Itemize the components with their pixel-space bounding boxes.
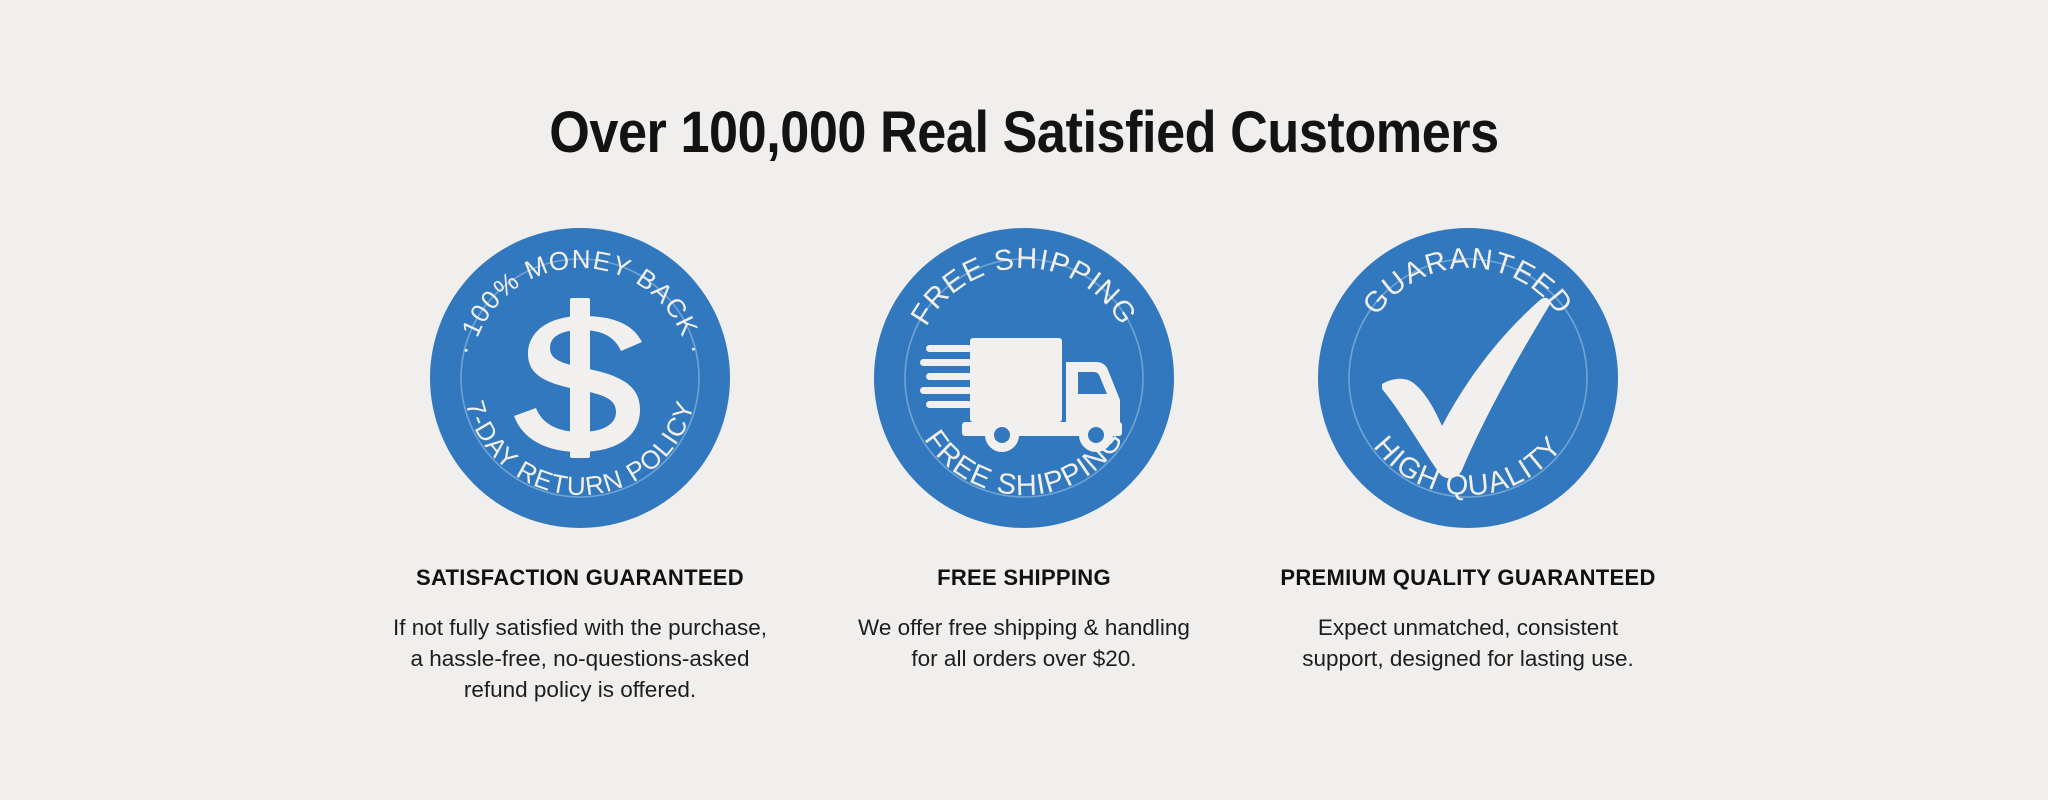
feature-columns: · 100% MONEY BACK · 7-DAY RETURN POLICY … — [0, 228, 2048, 705]
desc-line: refund policy is offered. — [464, 677, 696, 702]
desc-line: If not fully satisfied with the purchase… — [393, 615, 767, 640]
feature-heading: SATISFACTION GUARANTEED — [416, 566, 744, 590]
feature-description: If not fully satisfied with the purchase… — [393, 612, 767, 705]
feature-heading: PREMIUM QUALITY GUARANTEED — [1280, 566, 1655, 590]
feature-column-quality: GUARANTEED HIGH QUALITY PREMIUM QUALITY … — [1246, 228, 1690, 674]
badge-free-shipping[interactable]: FREE SHIPPING FREE SHIPPING — [874, 228, 1174, 528]
desc-line: We offer free shipping & handling — [858, 615, 1190, 640]
high-quality-badge-graphic: GUARANTEED HIGH QUALITY — [1318, 228, 1618, 528]
feature-column-shipping: FREE SHIPPING FREE SHIPPING — [802, 228, 1246, 674]
desc-line: for all orders over $20. — [911, 646, 1136, 671]
money-back-badge-graphic: · 100% MONEY BACK · 7-DAY RETURN POLICY — [430, 228, 730, 528]
desc-line: support, designed for lasting use. — [1302, 646, 1633, 671]
desc-line: Expect unmatched, consistent — [1318, 615, 1618, 640]
desc-line: a hassle-free, no-questions-asked — [411, 646, 750, 671]
feature-heading: FREE SHIPPING — [937, 566, 1111, 590]
feature-description: Expect unmatched, consistent support, de… — [1302, 612, 1633, 674]
badge-high-quality[interactable]: GUARANTEED HIGH QUALITY — [1318, 228, 1618, 528]
trust-badges-section: Over 100,000 Real Satisfied Customers · … — [0, 0, 2048, 800]
free-shipping-badge-graphic: FREE SHIPPING FREE SHIPPING — [874, 228, 1174, 528]
feature-column-satisfaction: · 100% MONEY BACK · 7-DAY RETURN POLICY … — [358, 228, 802, 705]
feature-description: We offer free shipping & handling for al… — [858, 612, 1190, 674]
badge-satisfaction-guaranteed[interactable]: · 100% MONEY BACK · 7-DAY RETURN POLICY — [430, 228, 730, 528]
page-title: Over 100,000 Real Satisfied Customers — [102, 104, 1945, 162]
